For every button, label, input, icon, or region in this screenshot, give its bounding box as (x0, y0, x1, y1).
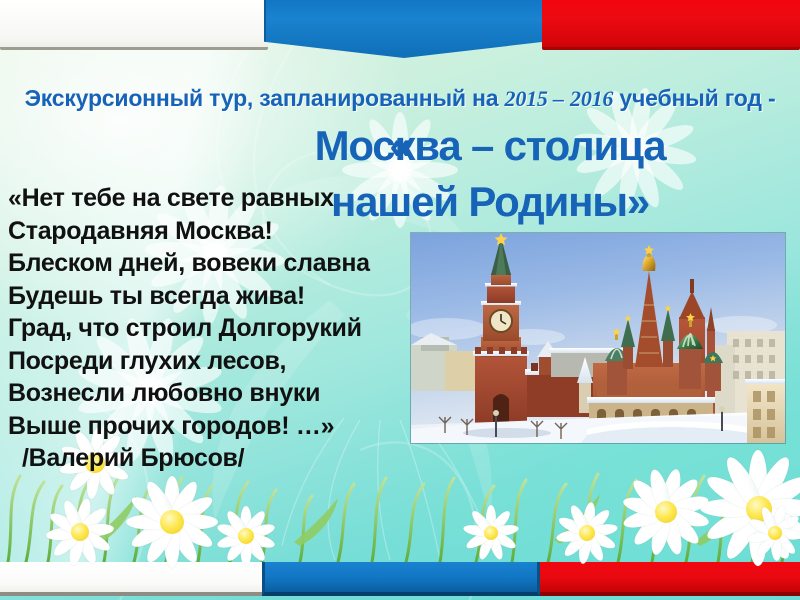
slide-header-text: Экскурсионный тур, запланированный на 20… (12, 74, 788, 175)
poem-line: Стародавняя Москва! (8, 215, 428, 248)
poem-line: Блеском дней, вовеки славна (8, 247, 428, 280)
flag-bottom-blue-stripe (262, 562, 540, 596)
decorative-daisy (742, 500, 800, 566)
poem-line: Град, что строил Долгорукий (8, 312, 428, 345)
poem-author: /Валерий Брюсов/ (8, 442, 428, 475)
poem-block: «Нет тебе на свете равных, Стародавняя М… (8, 182, 428, 475)
decorative-daisy (614, 460, 718, 564)
slide-canvas: Экскурсионный тур, запланированный на 20… (0, 0, 800, 600)
poem-line: Вознесли любовно внуки (8, 377, 428, 410)
flag-top-blue-stripe (264, 0, 544, 58)
decorative-daisy (458, 500, 524, 566)
header-year-2015: 2015 – (505, 86, 564, 111)
flag-top-white-stripe (0, 0, 268, 50)
header-tour-label: Экскурсионный тур (25, 85, 247, 111)
flag-bar-top (0, 0, 800, 62)
poem-line: «Нет тебе на свете равных, (8, 182, 428, 215)
poem-line: Выше прочих городов! …» (8, 410, 428, 443)
header-planned-label: , запланированный на (247, 85, 505, 111)
flag-top-red-stripe (542, 0, 800, 50)
decorative-daisy (550, 496, 624, 570)
header-year-2016: 2016 (570, 86, 613, 111)
moscow-red-square-illustration (411, 233, 785, 443)
decorative-daisy (210, 500, 282, 572)
poem-line: Посреди глухих лесов, (8, 345, 428, 378)
header-open-quote: « (389, 124, 410, 168)
moscow-red-square-photo (411, 233, 785, 443)
header-school-year-label: учебный год - (613, 85, 775, 111)
poem-line: Будешь ты всегда жива! (8, 280, 428, 313)
